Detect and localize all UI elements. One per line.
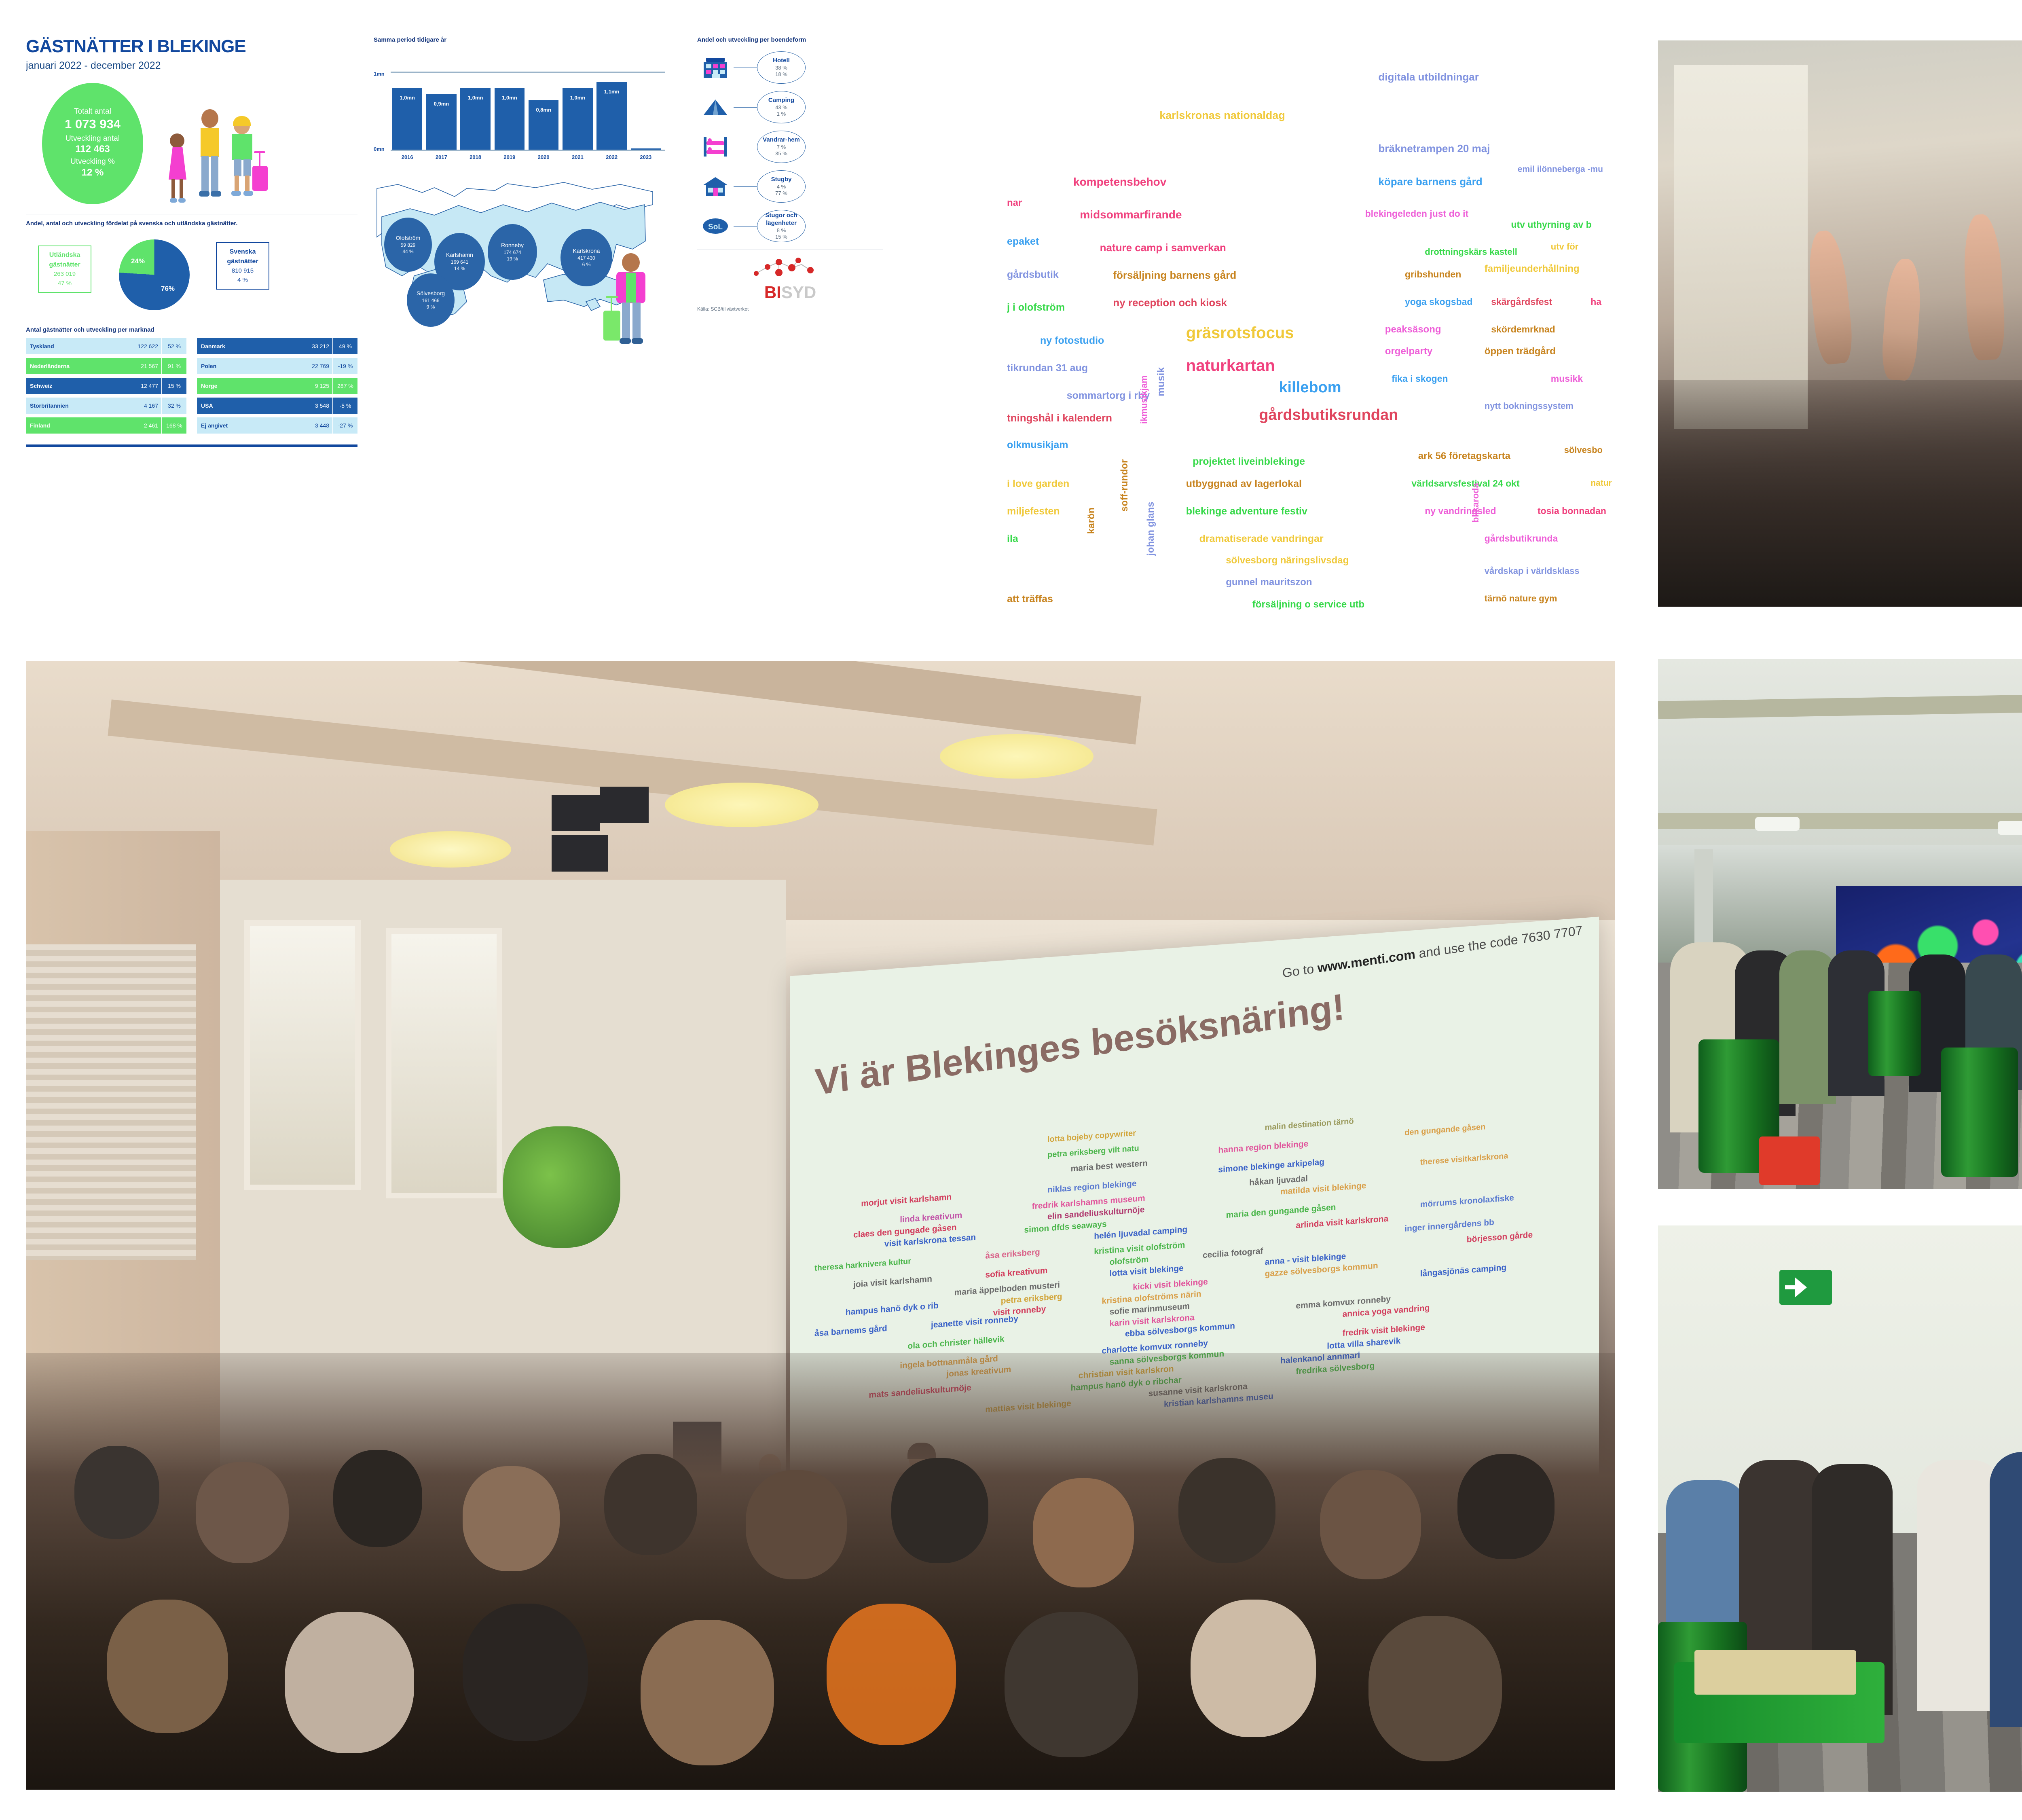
bisyd-logo-part1: BI [764,283,781,302]
table-row: Ej angivet 3 448 -27 % [197,417,357,434]
market-value: 3 448 [298,417,332,434]
blekinge-map: Olofström 59 829 44 % Karlshamn 169 641 … [374,180,657,354]
red-bag [1759,1136,1820,1185]
bar-2020: 0,8mn [529,100,558,150]
accommodation-name: Vandrar-hem [763,136,800,144]
participant-name: helén ljuvadal camping [1094,1225,1187,1241]
market-name: Danmark [197,338,298,354]
table-row: Danmark 33 212 49 % [197,338,357,354]
table-row: USA 3 548 -5 % [197,398,357,414]
cloud-word: midsommarfirande [1080,209,1182,220]
bar-2016: 1,0mn [392,88,422,150]
accommodation-bubble: Hotell 38 % 18 % [757,51,806,84]
pie-foreign-share: 24% [131,257,145,265]
municipality-name: Olofström [396,234,421,242]
municipality-name: Sölvesborg [417,290,445,297]
cloud-word: utv för [1551,242,1578,251]
cloud-word: försäljning o service utb [1252,600,1364,609]
participant-name: niklas region blekinge [1047,1179,1137,1195]
infographic-source: Källa: SCB/tillväxtverket [697,306,883,312]
connector-line [734,147,757,147]
accommodation-row: Hotell 38 % 18 % [697,51,883,84]
market-name: Tyskland [26,338,127,354]
barrel-table [1868,991,1921,1076]
market-name: Polen [197,358,298,374]
swedish-box: Svenska gästnätter 810 915 4 % [216,242,269,290]
market-pct: 49 % [332,338,357,354]
participant-name: den gungande gåsen [1404,1122,1485,1138]
table-row: Nederländerna 21 567 91 % [26,358,186,374]
cloud-word: gunnel mauritszon [1226,578,1312,587]
municipality-name: Ronneby [501,241,524,249]
foreign-value: 263 019 [54,271,76,277]
cloud-word: fika i skogen [1392,374,1448,383]
photo-mingle-green-barrels [1658,659,2022,1189]
family-illustration [163,109,260,204]
foreign-pct: 47 % [58,280,72,287]
cloud-word: skärgårdsfest [1491,297,1552,307]
cloud-word: yoga skogsbad [1405,297,1472,307]
market-name: Norge [197,378,298,394]
hotel-icon [697,53,734,82]
guest-nights-infographic: GÄSTNÄTTER I BLEKINGE januari 2022 - dec… [26,36,1037,627]
accommodation-share: 4 % [777,184,786,190]
cloud-word: försäljning barnens gård [1113,270,1236,280]
cloud-word: världsarvsfestival 24 okt [1411,479,1519,488]
accommodation-heading: Andel och utveckling per boendeform [697,36,883,43]
cloud-word: killebom [1279,380,1341,395]
x-tick-2017: 2017 [426,154,456,160]
participant-name: lotta bojeby copywriter [1047,1129,1136,1145]
participant-name: hampus hanö dyk o rib [846,1301,939,1317]
bar-2021: 1,0mn [563,88,592,150]
markets-table-right: Danmark 33 212 49 % Polen 22 769 -19 % N… [197,338,357,437]
accommodation-share: 8 % [777,227,786,234]
cloud-word: köpare barnens gård [1378,176,1482,187]
market-value: 12 477 [127,378,161,394]
cloud-word: ila [1007,534,1018,544]
cloud-word: ny vandringsled [1425,506,1496,516]
cloud-word: karlskronas nationaldag [1159,110,1285,121]
cabin-icon [697,172,734,201]
infographic-title: GÄSTNÄTTER I BLEKINGE [26,36,357,57]
cloud-word: kompetensbehov [1073,176,1166,188]
participant-name: åsa barnems gård [814,1324,887,1339]
connector-line [734,107,757,108]
municipality-value: 174 674 [503,249,521,256]
cloud-word: tikrundan 31 aug [1007,363,1088,373]
map-marker-solvesborg: Sölvesborg 161 466 9 % [407,273,455,327]
cloud-word: tärnö nature gym [1485,594,1557,603]
market-value: 4 167 [127,398,161,414]
participant-name: fredrik visit blekinge [1343,1323,1425,1338]
market-name: Schweiz [26,378,127,394]
accommodation-row: Stugby 4 % 77 % [697,170,883,203]
tent-icon [697,93,734,122]
total-dev-label: Utveckling antal [66,134,120,144]
participant-name: maria best western [1071,1159,1148,1174]
cloud-word: blekingeleden just do it [1365,209,1469,218]
bar-2022: 1,1mn [596,82,626,150]
y-tick-top: 1mn [374,71,385,77]
table-row: Tyskland 122 622 52 % [26,338,186,354]
market-pct: 32 % [161,398,186,414]
bar-2023 [631,148,661,150]
municipality-value: 169 641 [451,259,468,265]
participant-name: simone blekinge arkipelag [1218,1157,1324,1175]
municipality-pct: 19 % [507,256,518,262]
cloud-word: nature camp i samverkan [1100,242,1226,253]
participant-name: inger innergårdens bb [1404,1218,1494,1234]
swedish-pct: 4 % [237,277,248,284]
year-bar-chart: 1mn 0mn 1,0mn0,9mn1,0mn1,0mn0,8mn1,0mn1,… [374,73,665,152]
bisyd-network-icon [750,256,831,285]
cloud-word: olkmusikjam [1007,440,1068,450]
cloud-word: ny fotostudio [1040,336,1104,346]
bisyd-logo-part2: SYD [781,283,816,302]
accommodation-name: Camping [768,97,794,104]
municipality-pct: 14 % [454,265,465,272]
total-value: 1 073 934 [65,116,121,132]
accommodation-dev: 15 % [775,234,787,240]
accommodation-row: Camping 43 % 1 % [697,91,883,123]
bar-2018: 1,0mn [460,88,490,150]
market-pct: 15 % [161,378,186,394]
swedish-label: Svenska gästnätter [227,248,258,265]
cloud-word: gårdsbutik [1007,270,1059,280]
cloud-word: sölvesborg näringslivsdag [1226,556,1349,565]
cloud-word: ny reception och kiosk [1113,297,1227,308]
cloud-word-rotated: johan glans [1146,502,1156,556]
markets-heading: Antal gästnätter och utveckling per mark… [26,326,357,333]
x-tick-2023: 2023 [631,154,661,160]
participant-name: börjesson gårde [1467,1230,1533,1245]
cloud-word: tosia bonnadan [1538,506,1606,516]
x-tick-2022: 2022 [596,154,626,160]
accommodation-bubble: Stugor och lägenheter 8 % 15 % [757,210,806,242]
accommodation-bubble: Stugby 4 % 77 % [757,170,806,203]
cloud-word: nytt bokningssystem [1485,402,1574,411]
market-value: 122 622 [127,338,161,354]
table-row: Schweiz 12 477 15 % [26,378,186,394]
cloud-word: dramatiserade vandringar [1199,534,1324,544]
accommodation-name: Stugby [771,176,792,184]
market-name: Nederländerna [26,358,127,374]
cloud-word: projektet liveinblekinge [1193,457,1305,467]
cloud-word: orgelparty [1385,347,1432,356]
split-heading: Andel, antal och utveckling fördelat på … [26,220,357,227]
accommodation-dev: 18 % [775,71,787,78]
total-pct-value: 12 % [82,167,104,179]
municipality-value: 59 829 [401,242,416,248]
y-tick-bottom: 0mn [374,146,385,152]
cloud-word: gårdsbutiksrundan [1259,407,1398,423]
cloud-word: drottningskärs kastell [1425,248,1517,256]
cloud-word: familjeunderhållning [1485,264,1580,274]
cloud-word: gräsrotsfocus [1186,325,1294,341]
brochure-stack [1694,1650,1856,1695]
photo-foyer-networking: BENGT-ERIK MATTISSONS [1658,1225,2022,1792]
market-pct: -5 % [332,398,357,414]
connector-line [734,226,757,226]
cloud-word-rotated: blikaroda [1471,483,1480,523]
cloud-word: öppen trädgård [1485,347,1556,356]
participant-name: ola och christer hällevik [907,1334,1004,1351]
cloud-word: miljefesten [1007,506,1060,516]
participant-name: sofia kreativum [985,1266,1047,1280]
market-pct: -19 % [332,358,357,374]
cloud-word: digitala utbildningar [1378,72,1478,82]
market-value: 21 567 [127,358,161,374]
cloud-word: sommartorg i rby [1067,391,1150,401]
cloud-word: utbyggnad av lagerlokal [1186,479,1302,489]
cloud-word: i love garden [1007,479,1069,489]
participant-name: malin destination tärnö [1265,1117,1354,1132]
accommodation-share: 7 % [777,144,786,150]
total-label: Totalt antal [74,107,111,116]
municipality-name: Karlshamn [446,251,473,259]
cloud-word: vårdskap i världsklass [1485,567,1580,576]
municipality-value: 417 430 [577,255,595,261]
table-row: Polen 22 769 -19 % [197,358,357,374]
menti-word-cloud: digitala utbildningarkarlskronas nationa… [1007,61,1670,611]
accommodation-bubble: Camping 43 % 1 % [757,91,806,123]
foreign-box: Utländska gästnätter 263 019 47 % [38,245,91,293]
x-tick-2019: 2019 [495,154,525,160]
bisyd-logo: BISYD [697,256,883,302]
participant-name: petra eriksberg [1001,1292,1062,1306]
accommodation-share: 43 % [775,104,787,111]
municipality-name: Karlskrona [573,247,600,255]
map-marker-ronneby: Ronneby 174 674 19 % [488,224,537,280]
x-tick-2018: 2018 [460,154,490,160]
accommodation-bubble: Vandrar-hem 7 % 35 % [757,131,806,163]
market-pct: 287 % [332,378,357,394]
participant-name: långasjönäs camping [1420,1263,1507,1279]
total-dev-value: 112 463 [75,143,110,155]
table-row: Storbritannien 4 167 32 % [26,398,186,414]
cloud-word: natur [1591,479,1612,487]
cloud-word: gårdsbutikrunda [1485,534,1558,543]
municipality-pct: 6 % [582,261,591,268]
participant-name: mörrums kronolaxfiske [1420,1193,1514,1210]
markets-table-left: Tyskland 122 622 52 % Nederländerna 21 5… [26,338,186,437]
cloud-word: gribshunden [1405,270,1461,279]
screen-headline: Vi är Blekinges besöksnäring! [814,986,1346,1104]
chart-heading: Samma period tidigare år [374,36,665,43]
municipality-pct: 44 % [402,248,413,255]
participant-name: hanna region blekinge [1218,1139,1308,1155]
accommodation-row: SoL Stugor och lägenheter 8 % 15 % [697,210,883,242]
cloud-word: nar [1007,198,1022,208]
cloud-word-rotated: ikmusikjam [1140,375,1148,424]
participant-name: morjut visit karlshamn [861,1192,952,1208]
participant-name: petra eriksberg vilt natu [1047,1144,1139,1160]
market-value: 2 461 [127,417,161,434]
market-name: USA [197,398,298,414]
cloud-word: musikk [1551,374,1583,383]
bunkbed-icon [697,132,734,161]
x-tick-2021: 2021 [563,154,592,160]
accommodation-dev: 77 % [775,190,787,197]
accommodation-name: Hotell [773,57,790,65]
total-pct-label: Utveckling % [70,157,115,167]
accommodation-name: Stugor och lägenheter [757,212,805,227]
x-tick-2016: 2016 [392,154,422,160]
photo-audience-hands-raised [1658,40,2022,607]
table-row: Norge 9 125 287 % [197,378,357,394]
market-value: 3 548 [298,398,332,414]
cloud-word: bräknetrampen 20 maj [1378,143,1490,154]
barrel-table [1941,1048,2018,1177]
market-pct: -27 % [332,417,357,434]
cloud-word: emil ilönneberga -mu [1518,165,1603,174]
market-value: 22 769 [298,358,332,374]
pie-swedish-share: 76% [161,285,175,293]
photo-seminar-audience: Go to www.menti.com and use the code 763… [26,661,1615,1790]
cloud-word: j i olofström [1007,303,1065,313]
market-name: Ej angivet [197,417,298,434]
bar-2017: 0,9mn [426,94,456,150]
municipality-value: 161 466 [422,297,439,304]
svg-text:SoL: SoL [708,223,723,231]
accommodation-share: 38 % [775,65,787,71]
cloud-word: peaksäsong [1385,325,1441,334]
swedish-value: 810 915 [232,267,254,274]
participant-name: theresa harknivera kultur [814,1257,911,1273]
market-name: Storbritannien [26,398,127,414]
municipality-pct: 9 % [427,304,435,310]
cloud-word: ark 56 företagskarta [1418,451,1510,461]
foreign-label: Utländska gästnätter [49,252,80,268]
table-row: Finland 2 461 168 % [26,417,186,434]
menti-instruction: Go to www.menti.com and use the code 763… [1282,923,1583,981]
infographic-period: januari 2022 - december 2022 [26,60,357,72]
market-pct: 52 % [161,338,186,354]
cloud-word: naturkartan [1186,358,1275,374]
cloud-word: ha [1591,297,1601,307]
cloud-word-rotated: soff-rundor [1120,459,1129,512]
sol-icon: SoL [697,212,734,241]
cloud-word: skördemrknad [1491,325,1555,334]
cloud-word: utv uthyrning av b [1511,220,1591,229]
x-tick-2020: 2020 [529,154,558,160]
accommodation-dev: 35 % [775,150,787,157]
traveler-illustration [604,253,661,354]
participant-name: olofström [1110,1255,1149,1267]
participant-name: lotta villa sharevik [1327,1336,1400,1351]
cloud-word: epaket [1007,237,1039,247]
accommodation-dev: 1 % [777,111,786,117]
market-value: 9 125 [298,378,332,394]
market-pct: 168 % [161,417,186,434]
connector-line [734,186,757,187]
participant-name: joia visit karlshamn [853,1274,932,1290]
participant-name: kristina visit olofström [1094,1240,1185,1257]
connector-line [734,68,757,68]
market-pct: 91 % [161,358,186,374]
nationality-pie-chart: 24% 76% [119,239,190,310]
cloud-word-rotated: musik [1156,367,1166,396]
cloud-word-rotated: karön [1087,507,1096,533]
cloud-word: blekinge adventure festiv [1186,506,1307,516]
market-name: Finland [26,417,127,434]
total-kpi-oval: Totalt antal 1 073 934 Utveckling antal … [42,83,143,204]
accommodation-row: Vandrar-hem 7 % 35 % [697,131,883,163]
cloud-word: tningshål i kalendern [1007,413,1112,423]
participant-name: maria den gungande gåsen [1226,1202,1336,1220]
participant-name: åsa eriksberg [985,1247,1040,1261]
participant-name: cecilia fotograf [1203,1246,1263,1260]
cloud-word: att träffas [1007,594,1053,604]
participant-name: jeanette visit ronneby [931,1314,1018,1330]
bar-2019: 1,0mn [495,88,525,150]
participant-name: therese visitkarlskrona [1420,1151,1508,1167]
participant-name: arlinda visit karlskrona [1296,1214,1388,1230]
cloud-word: sölvesbo [1564,446,1603,455]
exit-sign-icon [1779,1270,1832,1305]
market-value: 33 212 [298,338,332,354]
map-marker-olofstrom: Olofström 59 829 44 % [384,218,432,272]
